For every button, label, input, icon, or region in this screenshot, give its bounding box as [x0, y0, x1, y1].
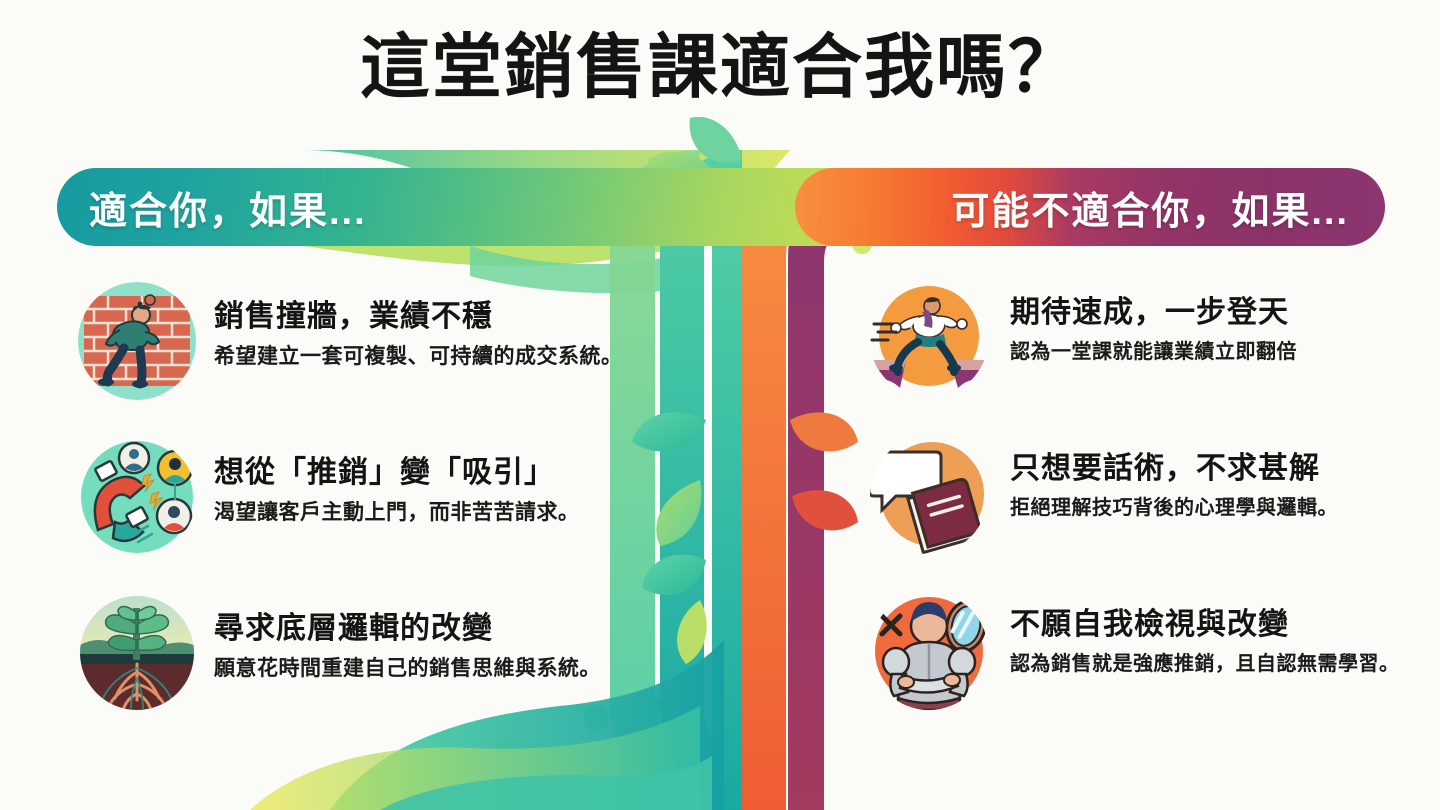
- item-description: 拒絕理解技巧背後的心理學與邏輯。: [1010, 494, 1338, 523]
- item-title: 不願自我檢視與改變: [1010, 606, 1400, 644]
- item-description: 認為銷售就是強應推銷，且自認無需學習。: [1010, 650, 1400, 679]
- magnet-people-icon: [78, 438, 196, 556]
- item-title: 只想要話術，不求甚解: [1010, 450, 1338, 488]
- list-item: 想從「推銷」變「吸引」 渴望讓客戶主動上門，而非苦苦請求。: [78, 438, 698, 556]
- item-title: 尋求底層邏輯的改變: [214, 610, 601, 648]
- column-fit: 銷售撞牆，業績不穩 希望建立一套可複製、可持續的成交系統。: [78, 282, 698, 750]
- item-title: 想從「推銷」變「吸引」: [214, 454, 580, 492]
- page-title: 這堂銷售課適合我嗎？: [0, 26, 1440, 109]
- infographic-canvas: 這堂銷售課適合我嗎？ 適合你，如果... 可能不適合你，如果...: [0, 0, 1440, 810]
- banner-not-fit: 可能不適合你，如果...: [795, 168, 1385, 246]
- runner-leap-gap-icon: [870, 280, 988, 398]
- brick-wall-runner-icon: [78, 282, 196, 400]
- banner-fit-label: 適合你，如果...: [89, 180, 367, 235]
- list-item: 只想要話術，不求甚解 拒絕理解技巧背後的心理學與邏輯。: [870, 436, 1415, 554]
- list-item: 尋求底層邏輯的改變 願意花時間重建自己的銷售思維與系統。: [78, 594, 698, 712]
- item-title: 銷售撞牆，業績不穩: [214, 298, 623, 336]
- list-item: 期待速成，一步登天 認為一堂課就能讓業績立即翻倍: [870, 280, 1415, 398]
- plant-roots-icon: [78, 594, 196, 712]
- list-item: 不願自我檢視與改變 認為銷售就是強應推銷，且自認無需學習。: [870, 592, 1415, 710]
- item-title: 期待速成，一步登天: [1010, 294, 1297, 332]
- speech-bubble-book-icon: [870, 436, 988, 554]
- list-item: 銷售撞牆，業績不穩 希望建立一套可複製、可持續的成交系統。: [78, 282, 698, 400]
- banner-not-fit-label: 可能不適合你，如果...: [951, 180, 1349, 235]
- item-description: 渴望讓客戶主動上門，而非苦苦請求。: [214, 498, 580, 528]
- item-description: 認為一堂課就能讓業績立即翻倍: [1010, 338, 1297, 367]
- item-description: 希望建立一套可複製、可持續的成交系統。: [214, 342, 623, 372]
- column-not-fit: 期待速成，一步登天 認為一堂課就能讓業績立即翻倍: [870, 280, 1415, 748]
- knight-mirror-icon: [870, 592, 988, 710]
- item-description: 願意花時間重建自己的銷售思維與系統。: [214, 654, 601, 684]
